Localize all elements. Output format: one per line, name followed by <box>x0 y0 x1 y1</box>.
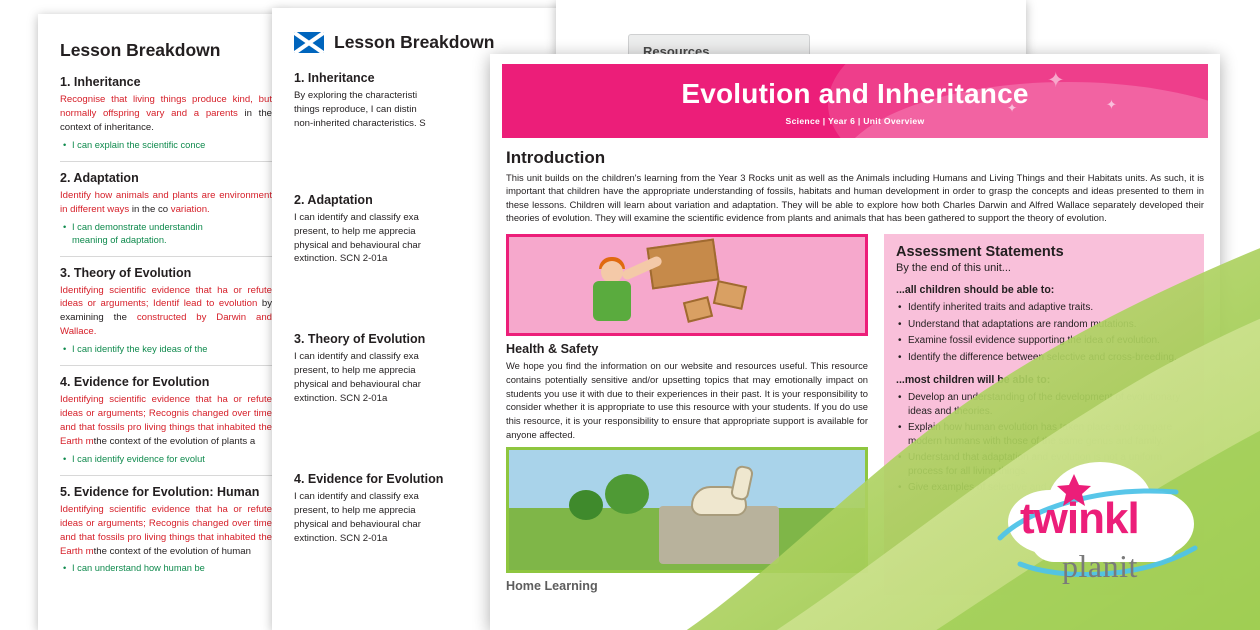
lesson-body-line: lead to evolution <box>184 298 258 309</box>
unit-overview-document[interactable]: ✦ ✦ ✦ Evolution and Inheritance Science … <box>490 54 1220 630</box>
lesson-heading: 5. Evidence for Evolution: Human <box>60 485 272 499</box>
lesson-body-line: extinction. SCN 2-01a <box>294 253 387 264</box>
lesson-body-line: non-inherited characteristics. S <box>294 118 426 129</box>
lesson-body: Identifying scientific evidence that ha … <box>60 503 272 559</box>
assessment-group2-list: Develop an understanding of the developm… <box>896 391 1192 495</box>
lesson-body-line: physical and behavioural char <box>294 379 421 390</box>
assessment-item: Explain how human evolution has taken pl… <box>908 421 1192 448</box>
tree-icon <box>605 474 649 514</box>
lesson-breakdown-document-1[interactable]: Lesson Breakdown 1. Inheritance Recognis… <box>38 14 290 630</box>
lesson-body-line: physical and behavioural char <box>294 240 421 251</box>
lesson-objective: I can identify evidence for evolut <box>72 453 272 466</box>
lesson-body-line: extinction. SCN 2-01a <box>294 393 387 404</box>
lesson-body-line: extinction. SCN 2-01a <box>294 533 387 544</box>
lesson-body-line: present, to help me apprecia <box>294 505 416 516</box>
lesson-item: 4. Evidence for Evolution Identifying sc… <box>60 375 272 466</box>
lesson-heading: 2. Adaptation <box>60 171 272 185</box>
lesson-body-line: Identify how animals and plants are <box>60 190 216 201</box>
lesson-body: Recognise that living things produce kin… <box>60 93 272 135</box>
assessment-heading: Assessment Statements <box>896 244 1192 260</box>
lesson-body: Identifying scientific evidence that ha … <box>60 284 272 340</box>
assessment-item: Identify the difference between selectiv… <box>908 351 1192 365</box>
home-learning-heading: Home Learning <box>506 579 868 593</box>
sheet1-title: Lesson Breakdown <box>60 40 272 61</box>
banner-subtitle: Science | Year 6 | Unit Overview <box>502 116 1208 126</box>
assessment-item: Give examples of selective and cross- <box>908 481 1192 495</box>
lesson-body-line: Identifying scientific evidence that ha <box>60 394 228 405</box>
lesson-objective-line: I can demonstrate understandin <box>72 222 203 232</box>
lesson-body-line: By exploring the characteristi <box>294 90 417 101</box>
lesson-body: Identify how animals and plants are envi… <box>60 189 272 217</box>
lesson-body-line: the context of the evolution of human <box>94 546 251 557</box>
lesson-item: 5. Evidence for Evolution: Human Identif… <box>60 485 272 576</box>
overview-left-column: Health & Safety We hope you find the inf… <box>506 234 868 595</box>
dinosaur-fossil-scene-illustration <box>506 447 868 573</box>
lesson-body-line: in the co <box>129 204 168 215</box>
overview-right-column: Assessment Statements By the end of this… <box>884 234 1204 595</box>
divider <box>60 161 272 162</box>
lesson-heading: 4. Evidence for Evolution <box>60 375 272 389</box>
body-shape <box>593 281 631 321</box>
lesson-body-line: Identifying scientific evidence that ha <box>60 504 228 515</box>
lesson-objective: I can understand how human be <box>72 562 272 575</box>
assessment-group1-heading: ...all children should be able to: <box>896 284 1192 296</box>
tree-icon <box>569 490 603 520</box>
lesson-body-line: present, to help me apprecia <box>294 365 416 376</box>
cardboard-box-icon <box>683 297 713 324</box>
lesson-body-line: the context of the evolution of plants a <box>94 436 256 447</box>
assessment-item: Understand that adaptation and evolution… <box>908 451 1192 478</box>
overview-columns: Health & Safety We hope you find the inf… <box>506 234 1204 595</box>
divider <box>60 475 272 476</box>
boy-carrying-boxes-illustration <box>506 234 868 336</box>
assessment-item: Examine fossil evidence supporting the i… <box>908 334 1192 348</box>
lesson-body-line: things reproduce, I can distin <box>294 104 417 115</box>
lesson-body-line: physical and behavioural char <box>294 519 421 530</box>
lesson-objective: I can explain the scientific conce <box>72 139 272 152</box>
assessment-item: Develop an understanding of the developm… <box>908 391 1192 418</box>
lesson-objective: I can demonstrate understandinmeaning of… <box>72 221 272 247</box>
assessment-subheading: By the end of this unit... <box>896 262 1192 274</box>
lesson-body-line: present, to help me apprecia <box>294 226 416 237</box>
lesson-heading: 1. Inheritance <box>60 75 272 89</box>
health-safety-text: We hope you find the information on our … <box>506 359 868 441</box>
sheet2-header: Lesson Breakdown <box>294 32 552 53</box>
introduction-text: This unit builds on the children's learn… <box>506 171 1204 224</box>
introduction-heading: Introduction <box>506 148 1204 168</box>
lesson-item: 1. Inheritance Recognise that living thi… <box>60 75 272 152</box>
lesson-body-line: parents <box>206 108 238 119</box>
lesson-body-line: I can identify and classify exa <box>294 212 419 223</box>
screenshot-root: Lesson Breakdown 1. Inheritance Recognis… <box>0 0 1260 630</box>
lesson-body-line: Recognise that living things produce <box>60 94 227 105</box>
lesson-body-line: I can identify and classify exa <box>294 351 419 362</box>
lesson-item: 3. Theory of Evolution Identifying scien… <box>60 266 272 357</box>
lesson-heading: 3. Theory of Evolution <box>60 266 272 280</box>
sheet2-title: Lesson Breakdown <box>334 32 494 53</box>
divider <box>60 365 272 366</box>
health-safety-heading: Health & Safety <box>506 342 868 356</box>
lesson-body-line: variation. <box>171 204 210 215</box>
unit-banner: ✦ ✦ ✦ Evolution and Inheritance Science … <box>502 64 1208 138</box>
head-shape <box>601 261 623 283</box>
assessment-group2-heading: ...most children will be able to: <box>896 374 1192 386</box>
assessment-item: Understand that adaptations are random m… <box>908 318 1192 332</box>
lesson-body-line: I can identify and classify exa <box>294 491 419 502</box>
assessment-group1-list: Identify inherited traits and adaptive t… <box>896 301 1192 364</box>
banner-title: Evolution and Inheritance <box>502 64 1208 110</box>
assessment-item: Identify inherited traits and adaptive t… <box>908 301 1192 315</box>
assessment-statements-panel: Assessment Statements By the end of this… <box>884 234 1204 595</box>
sky-shape <box>509 450 865 512</box>
lesson-body-line: Identifying scientific evidence that ha <box>60 285 228 296</box>
lesson-objective: I can identify the key ideas of the <box>72 343 272 356</box>
divider <box>60 256 272 257</box>
cardboard-box-icon <box>713 281 747 311</box>
scotland-flag-icon <box>294 32 324 53</box>
lesson-item: 2. Adaptation Identify how animals and p… <box>60 171 272 247</box>
lesson-objective-line: meaning of adaptation. <box>72 235 167 245</box>
lesson-body: Identifying scientific evidence that ha … <box>60 393 272 449</box>
